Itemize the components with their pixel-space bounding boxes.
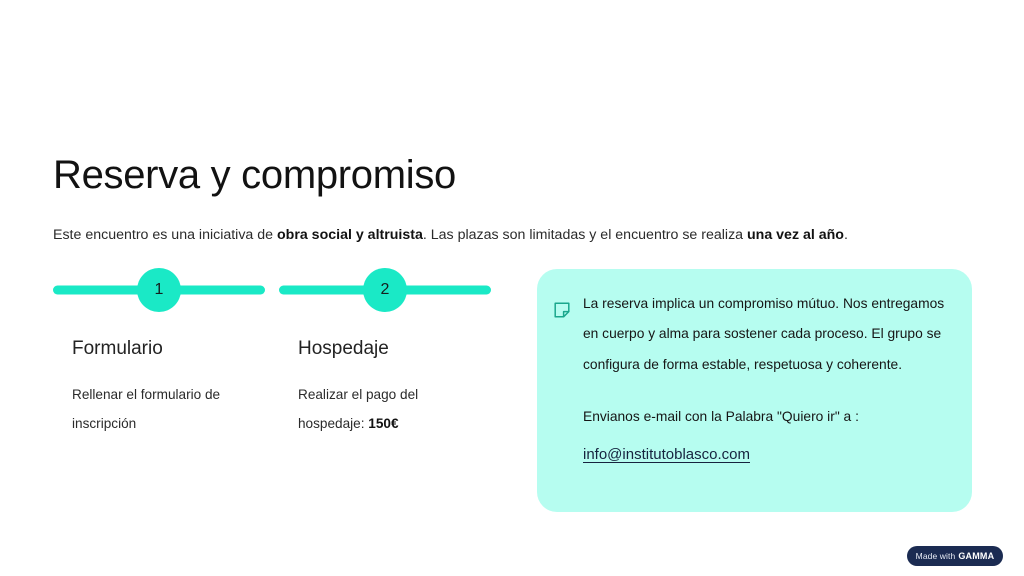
step-2-price: 150€ (368, 416, 398, 431)
callout-body: La reserva implica un compromiso mútuo. … (583, 289, 946, 492)
step-2-description: Realizar el pago del hospedaje: 150€ (279, 380, 476, 438)
step-item-2: 2 Hospedaje Realizar el pago del hospeda… (279, 268, 491, 438)
subtitle-part-3: . (844, 227, 848, 243)
badge-brand-label: GAMMA (958, 551, 994, 561)
subtitle-bold-1: obra social y altruista (277, 227, 423, 243)
page-title: Reserva y compromiso (53, 153, 456, 197)
step-2-number-badge: 2 (363, 268, 407, 312)
step-1-track: 1 (53, 268, 265, 312)
made-with-gamma-badge[interactable]: Made with GAMMA (907, 546, 1003, 566)
callout-card: La reserva implica un compromiso mútuo. … (537, 269, 972, 512)
step-item-1: 1 Formulario Rellenar el formulario de i… (53, 268, 265, 438)
step-2-track: 2 (279, 268, 491, 312)
callout-paragraph-1: La reserva implica un compromiso mútuo. … (583, 289, 946, 380)
subtitle-part-2: . Las plazas son limitadas y el encuentr… (423, 227, 747, 243)
slide-subtitle: Este encuentro es una iniciativa de obra… (53, 225, 848, 246)
callout-paragraph-2: Envianos e-mail con la Palabra "Quiero i… (583, 402, 946, 432)
steps-container: 1 Formulario Rellenar el formulario de i… (53, 268, 493, 438)
contact-email-link[interactable]: info@institutoblasco.com (583, 438, 750, 471)
step-1-title: Formulario (53, 338, 265, 361)
sticky-note-icon (553, 301, 571, 319)
subtitle-bold-2: una vez al año (747, 227, 844, 243)
step-1-number-badge: 1 (137, 268, 181, 312)
step-2-description-text: Realizar el pago del hospedaje: (298, 387, 418, 431)
badge-made-with-label: Made with (916, 551, 956, 561)
subtitle-part-1: Este encuentro es una iniciativa de (53, 227, 277, 243)
step-1-description: Rellenar el formulario de inscripción (53, 380, 250, 438)
step-2-title: Hospedaje (279, 338, 491, 361)
